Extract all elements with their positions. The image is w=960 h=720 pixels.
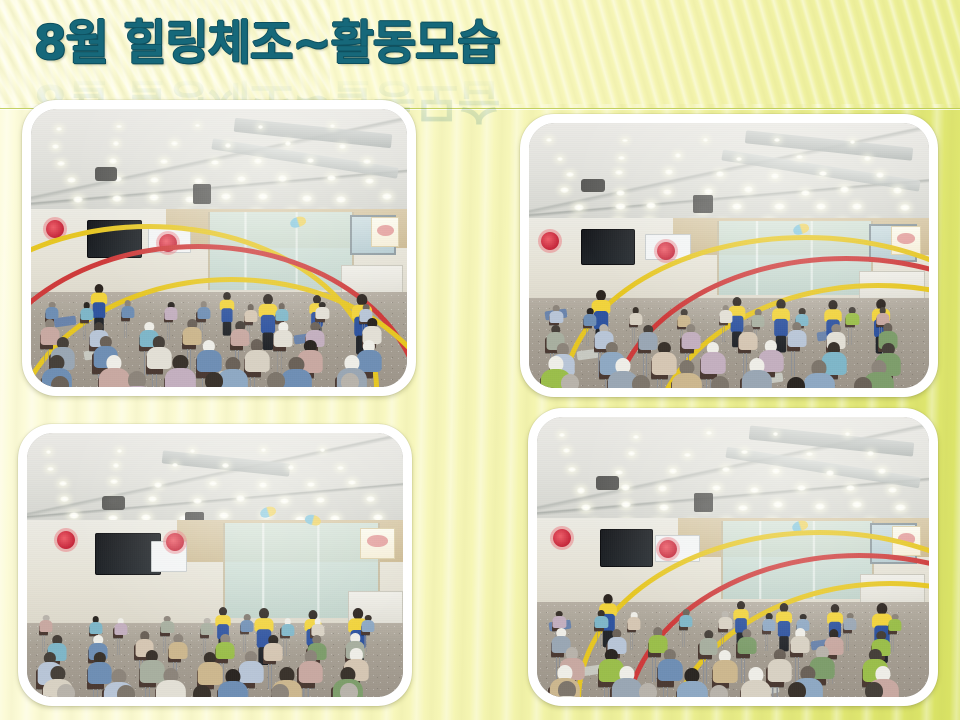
seated-participant (629, 307, 643, 326)
seated-participant (844, 377, 883, 388)
seated-participant (240, 614, 254, 633)
seated-participant (547, 681, 586, 697)
seated-participant (740, 358, 773, 388)
seated-participant (845, 307, 859, 326)
audience-seated (537, 540, 929, 697)
seated-participant (160, 616, 174, 635)
seated-participant (855, 682, 894, 697)
photo-bottom-left-image (27, 433, 403, 697)
seated-participant (776, 377, 815, 388)
seated-participant (549, 305, 563, 324)
audience-seated (31, 231, 407, 387)
seated-participant (196, 301, 210, 320)
seated-participant (550, 374, 589, 388)
seated-participant (200, 618, 214, 637)
seated-participant (275, 303, 289, 322)
banner-ray-texture-left (0, 0, 330, 108)
seated-participant (164, 302, 178, 321)
seated-participant (195, 372, 234, 388)
seated-participant (89, 616, 103, 635)
seated-participant (113, 618, 127, 637)
audience-seated (27, 549, 403, 697)
seated-participant (47, 684, 86, 697)
seated-participant (778, 682, 817, 697)
seated-participant (117, 371, 156, 387)
seated-participant (80, 302, 94, 321)
seated-participant (700, 376, 739, 388)
audience-seated (529, 240, 929, 388)
photo-top-right-image (529, 123, 929, 388)
photo-top-left[interactable] (22, 100, 416, 396)
seated-participant (315, 302, 329, 321)
seated-participant (736, 629, 756, 656)
seated-participant (45, 302, 59, 321)
slide-canvas: 8월 힐링체조~활동모습 8월 힐링체조~활동모습 (0, 0, 960, 720)
seated-participant (183, 685, 222, 697)
seated-participant (679, 609, 693, 628)
seated-participant (700, 342, 727, 377)
seated-participant (330, 683, 369, 697)
seated-participant (552, 611, 566, 630)
photo-bottom-left[interactable] (18, 424, 412, 706)
seated-participant (627, 612, 641, 631)
seated-participant (257, 372, 296, 387)
seated-participant (594, 610, 608, 629)
photo-bottom-right[interactable] (528, 408, 938, 706)
photo-top-right[interactable] (520, 114, 938, 397)
seated-participant (719, 305, 733, 324)
seated-participant (671, 360, 704, 388)
seated-participant (39, 615, 53, 634)
seated-participant (273, 322, 293, 349)
seated-participant (843, 613, 857, 632)
seated-participant (699, 685, 738, 697)
seated-participant (164, 355, 197, 387)
seated-participant (787, 322, 807, 349)
seated-participant (361, 615, 375, 634)
seated-participant (718, 611, 732, 630)
photo-bottom-right-image (537, 417, 929, 697)
seated-participant (41, 376, 80, 387)
seated-participant (621, 375, 660, 388)
seated-participant (107, 685, 146, 697)
seated-participant (790, 628, 810, 655)
photo-top-left-image (31, 109, 407, 387)
seated-participant (168, 634, 188, 661)
seated-participant (712, 650, 739, 685)
seated-participant (740, 667, 773, 697)
seated-participant (738, 325, 758, 352)
seated-participant (628, 683, 667, 697)
seated-participant (261, 684, 300, 697)
seated-participant (762, 613, 776, 632)
seated-participant (888, 614, 902, 633)
seated-participant (330, 373, 369, 387)
seated-participant (680, 324, 700, 351)
seated-participant (280, 618, 294, 637)
seated-participant (121, 300, 135, 319)
seated-participant (263, 635, 283, 662)
